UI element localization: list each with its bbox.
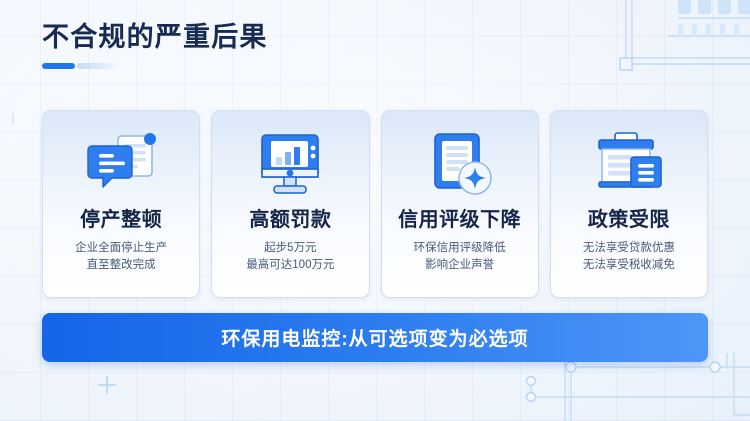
circuit-decoration-top-right bbox=[582, 0, 750, 104]
card-description-line: 起步5万元 bbox=[246, 240, 334, 257]
circuit-decoration-bottom-right bbox=[487, 353, 750, 421]
card-description: 环保信用评级降低 影响企业声誉 bbox=[414, 240, 506, 274]
highlight-banner[interactable]: 环保用电监控:从可选项变为必选项 bbox=[42, 313, 708, 362]
banner-text: 环保用电监控:从可选项变为必选项 bbox=[221, 324, 528, 351]
clipboard-folder-icon bbox=[589, 128, 669, 202]
card-description-line: 最高可达100万元 bbox=[246, 257, 334, 274]
card-description-line: 无法享受贷款优惠 bbox=[583, 240, 675, 257]
consequence-card-list: 停产整顿 企业全面停止生产 直至整改完成 bbox=[42, 110, 708, 298]
chat-document-icon bbox=[82, 128, 160, 202]
card-description: 无法享受贷款优惠 无法享受税收减免 bbox=[583, 240, 675, 274]
title-accent bbox=[42, 63, 268, 69]
card-description: 起步5万元 最高可达100万元 bbox=[246, 240, 334, 274]
monitor-chart-icon bbox=[252, 128, 328, 202]
card-title: 信用评级下降 bbox=[398, 207, 521, 233]
consequence-card[interactable]: 政策受限 无法享受贷款优惠 无法享受税收减免 bbox=[550, 110, 708, 298]
card-description: 企业全面停止生产 直至整改完成 bbox=[75, 240, 167, 274]
tick-decoration-left bbox=[6, 112, 20, 126]
document-star-icon bbox=[423, 128, 497, 202]
page-title: 不合规的严重后果 bbox=[42, 20, 268, 54]
card-description-line: 企业全面停止生产 bbox=[75, 240, 167, 257]
accent-bar-primary bbox=[42, 63, 75, 69]
header: 不合规的严重后果 bbox=[42, 20, 268, 69]
card-title: 政策受限 bbox=[588, 207, 670, 233]
card-description-line: 环保信用评级降低 bbox=[414, 240, 506, 257]
card-title: 高额罚款 bbox=[249, 207, 331, 233]
accent-bar-secondary bbox=[77, 63, 119, 69]
plus-decoration-bottom-left bbox=[96, 374, 118, 396]
consequence-card[interactable]: 信用评级下降 环保信用评级降低 影响企业声誉 bbox=[381, 110, 539, 298]
consequence-card[interactable]: 高额罚款 起步5万元 最高可达100万元 bbox=[211, 110, 369, 298]
consequence-card[interactable]: 停产整顿 企业全面停止生产 直至整改完成 bbox=[42, 110, 200, 298]
card-description-line: 无法享受税收减免 bbox=[583, 257, 675, 274]
card-title: 停产整顿 bbox=[80, 207, 162, 233]
slide-canvas: 不合规的严重后果 bbox=[0, 0, 750, 421]
card-description-line: 影响企业声誉 bbox=[414, 257, 506, 274]
card-description-line: 直至整改完成 bbox=[75, 257, 167, 274]
